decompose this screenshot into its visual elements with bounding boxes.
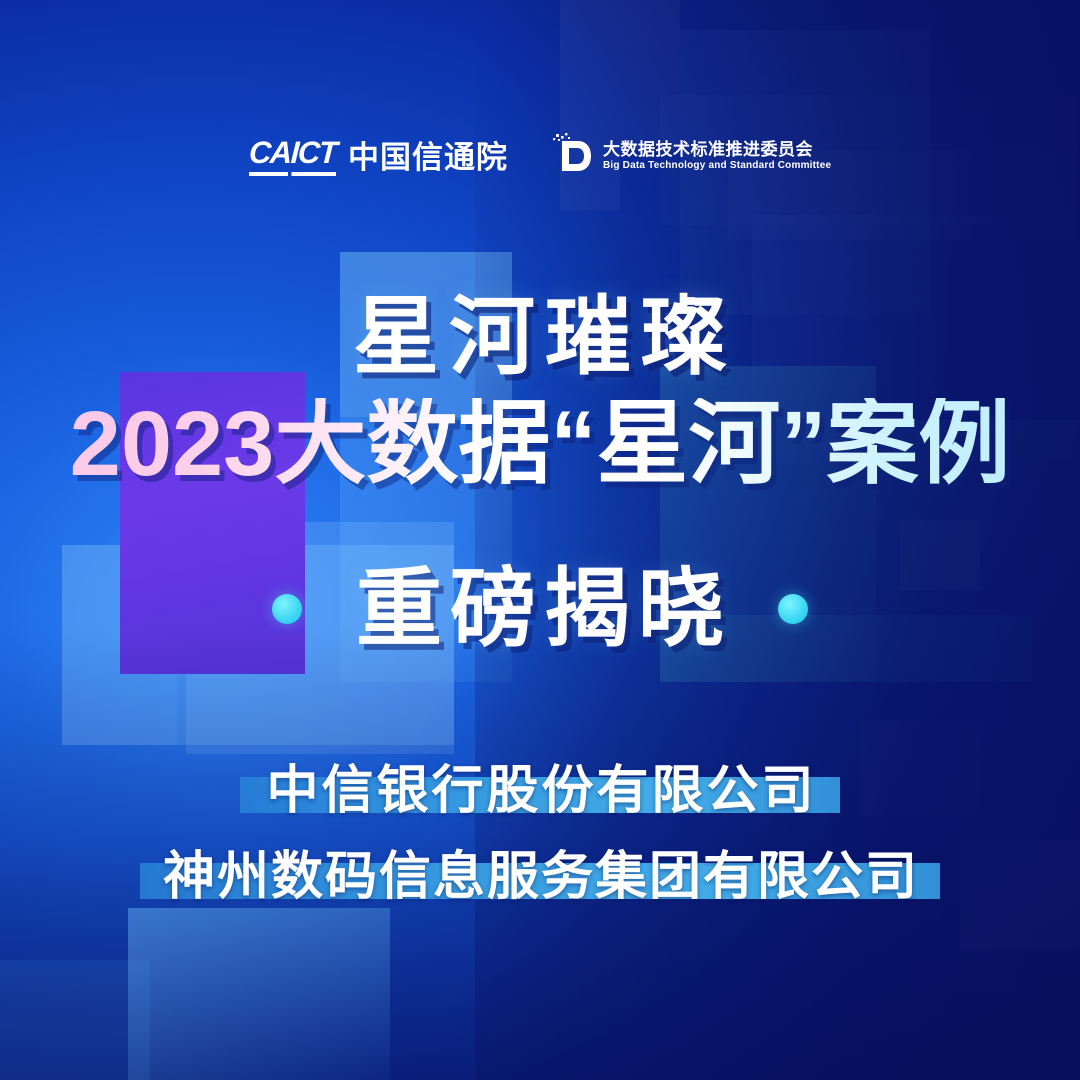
company-entry-1: 中信银行股份有限公司: [0, 765, 1080, 817]
title-line-3: 重磅揭晓: [348, 566, 732, 652]
bdtc-english-name: Big Data Technology and Standard Committ…: [603, 161, 831, 171]
poster-canvas: CAICT 中国信通院: [0, 0, 1080, 1080]
bdtc-monogram-icon: [552, 133, 592, 179]
company-list: 中信银行股份有限公司 神州数码信息服务集团有限公司: [0, 765, 1080, 937]
underline-rule-icon: [249, 172, 336, 176]
caict-wordmark-block: CAICT: [249, 137, 336, 176]
caict-logo: CAICT 中国信通院: [249, 137, 508, 176]
title-line-3-row: 重磅揭晓: [0, 566, 1080, 652]
logo-header: CAICT 中国信通院: [0, 133, 1080, 179]
cyan-dot-icon-right: [778, 594, 808, 624]
bg-rect-bottom-left-2: [0, 960, 150, 1080]
caict-wordmark: CAICT: [248, 137, 337, 168]
company-entry-2: 神州数码信息服务集团有限公司: [0, 851, 1080, 903]
bdtc-chinese-name: 大数据技术标准推进委员会: [603, 141, 831, 158]
title-line-1: 星河璀璨: [0, 294, 1080, 380]
bdtc-text-block: 大数据技术标准推进委员会 Big Data Technology and Sta…: [603, 141, 831, 171]
company-name-2: 神州数码信息服务集团有限公司: [0, 851, 1080, 903]
title-line-2: 2023大数据“星河”案例: [0, 398, 1080, 490]
bdtc-logo: 大数据技术标准推进委员会 Big Data Technology and Sta…: [552, 133, 831, 179]
cyan-dot-icon-left: [272, 594, 302, 624]
caict-chinese-name: 中国信通院: [348, 142, 508, 176]
company-name-1: 中信银行股份有限公司: [0, 765, 1080, 817]
